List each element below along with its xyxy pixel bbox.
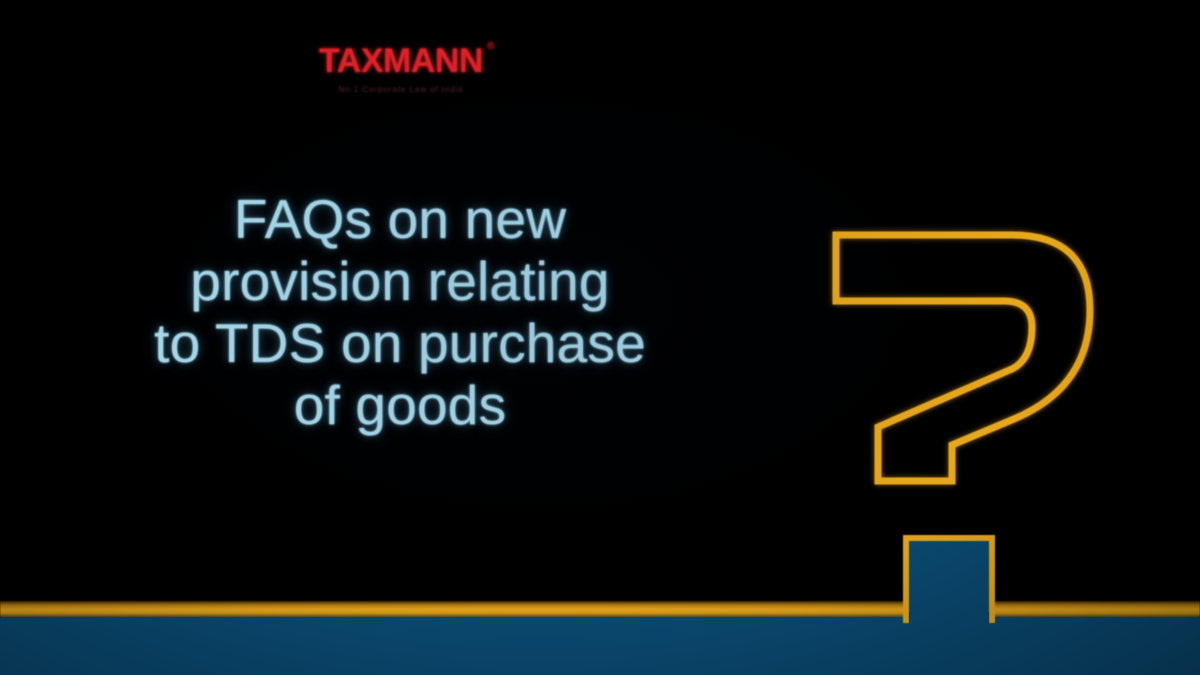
- headline-line-2: provision relating: [40, 250, 760, 312]
- footer-blue-band: [0, 617, 1200, 675]
- gold-divider-rule: [0, 601, 1200, 618]
- question-mark-icon: [800, 205, 1140, 515]
- promo-banner: TAXMANN ® No.1 Corporate Law of India FA…: [0, 0, 1200, 675]
- headline-line-4: of goods: [40, 374, 760, 436]
- brand-wordmark: TAXMANN ®: [319, 44, 483, 78]
- question-mark-dot-icon: [903, 535, 995, 623]
- registered-trademark-icon: ®: [487, 42, 494, 52]
- headline-line-3: to TDS on purchase: [40, 312, 760, 374]
- brand-wordmark-text: TAXMANN: [319, 42, 483, 80]
- question-mark-dot-base: [909, 612, 989, 624]
- headline-line-1: FAQs on new: [40, 188, 760, 250]
- page-title: FAQs on new provision relating to TDS on…: [40, 188, 760, 437]
- taxmann-logo[interactable]: TAXMANN ® No.1 Corporate Law of India: [296, 44, 506, 112]
- brand-tagline: No.1 Corporate Law of India: [296, 85, 506, 94]
